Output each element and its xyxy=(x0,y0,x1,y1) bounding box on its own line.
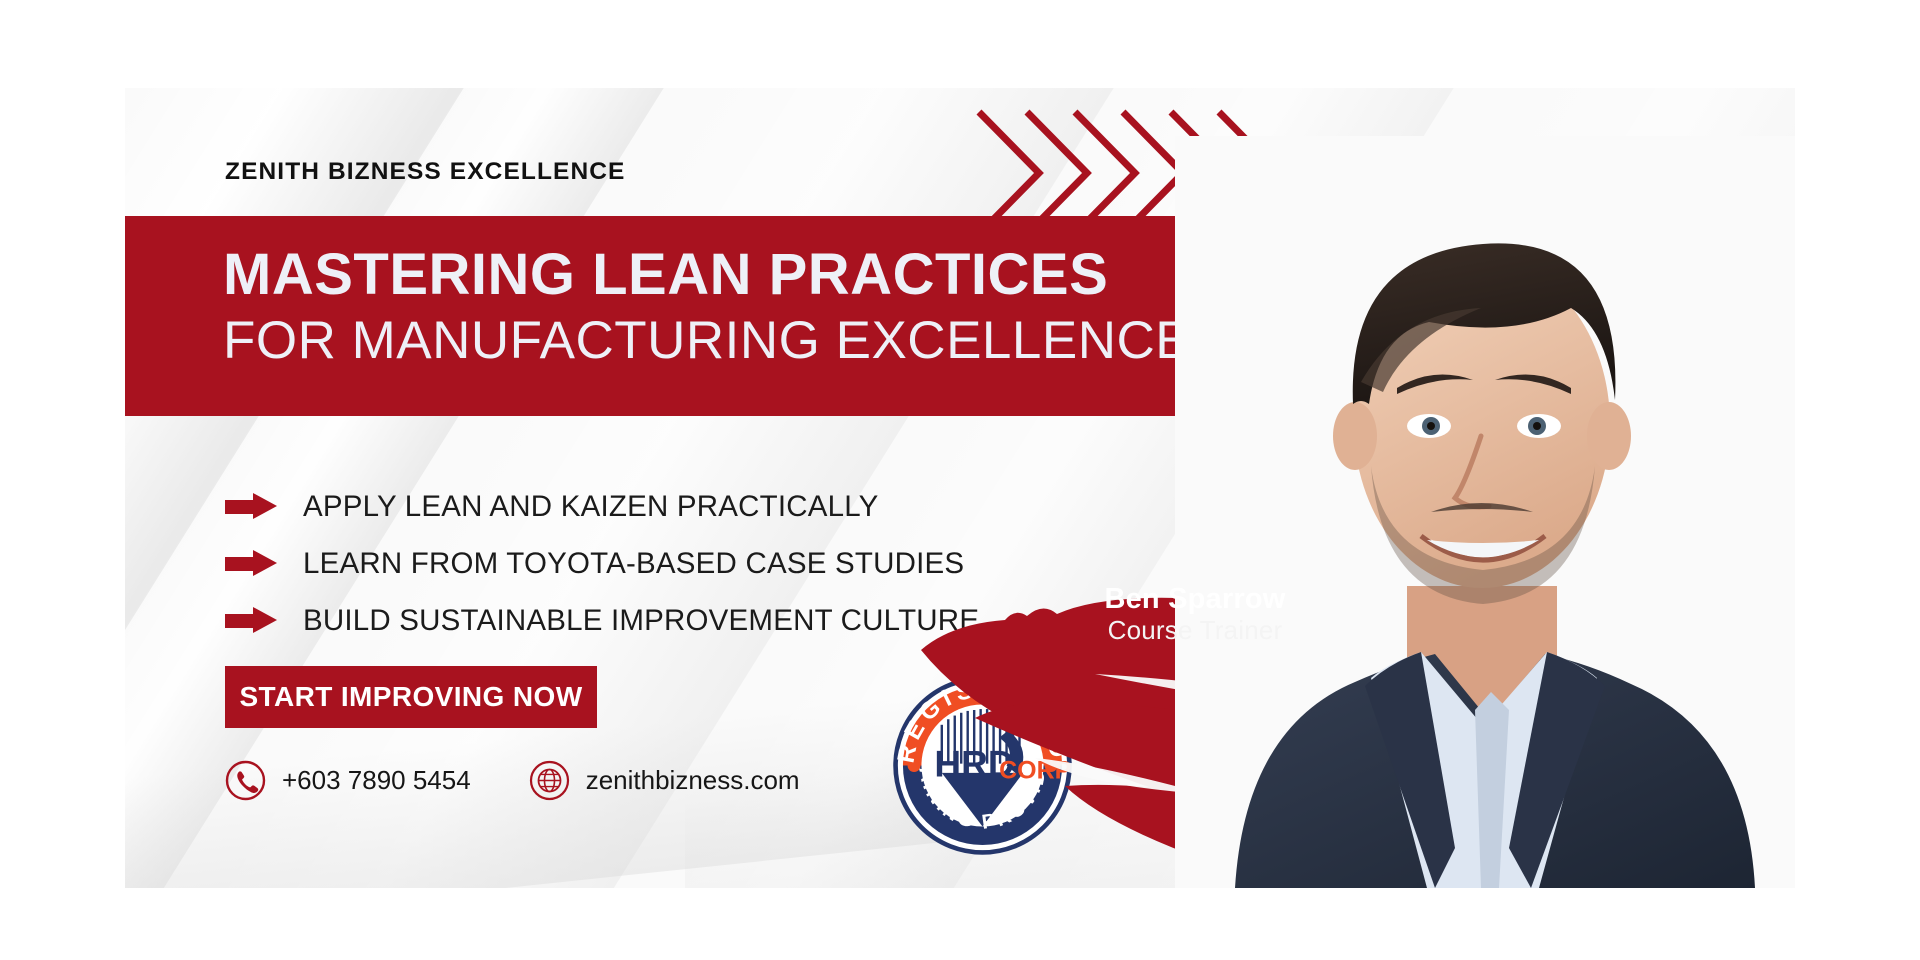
phone-icon xyxy=(225,760,266,801)
promo-banner: ZENITH BIZNESS EXCELLENCE MASTERING LEAN… xyxy=(125,88,1795,888)
globe-icon xyxy=(529,760,570,801)
trainer-role: Course Trainer xyxy=(1030,615,1360,646)
list-item: BUILD SUSTAINABLE IMPROVEMENT CULTURE xyxy=(225,592,979,649)
trainer-nameplate: Ben Sparrow Course Trainer xyxy=(1030,583,1360,647)
list-item: APPLY LEAN AND KAIZEN PRACTICALLY xyxy=(225,478,979,535)
start-improving-now-button[interactable]: START IMPROVING NOW xyxy=(225,666,597,728)
title-line-2: FOR MANUFACTURING EXCELLENCE xyxy=(223,311,1153,370)
title-band: MASTERING LEAN PRACTICES FOR MANUFACTURI… xyxy=(125,216,1280,416)
badge-center-secondary: CORP xyxy=(999,756,1071,784)
arrow-right-icon xyxy=(225,550,277,577)
contact-bar: +603 7890 5454 zenithbizness.com xyxy=(225,760,800,801)
trainer-photo xyxy=(1175,136,1795,888)
cta-label: START IMPROVING NOW xyxy=(239,681,582,713)
list-item-label: APPLY LEAN AND KAIZEN PRACTICALLY xyxy=(303,490,879,524)
title-line-1: MASTERING LEAN PRACTICES xyxy=(223,246,1153,304)
list-item-label: BUILD SUSTAINABLE IMPROVEMENT CULTURE xyxy=(303,604,979,638)
list-item: LEARN FROM TOYOTA-BASED CASE STUDIES xyxy=(225,535,979,592)
benefits-list: APPLY LEAN AND KAIZEN PRACTICALLY LEARN … xyxy=(225,478,979,649)
website-url: zenithbizness.com xyxy=(586,765,800,796)
list-item-label: LEARN FROM TOYOTA-BASED CASE STUDIES xyxy=(303,547,964,581)
arrow-right-icon xyxy=(225,607,277,634)
phone-contact[interactable]: +603 7890 5454 xyxy=(225,760,471,801)
website-contact[interactable]: zenithbizness.com xyxy=(529,760,800,801)
brand-name: ZENITH BIZNESS EXCELLENCE xyxy=(225,158,625,186)
trainer-name: Ben Sparrow xyxy=(1030,583,1360,615)
arrow-right-icon xyxy=(225,493,277,520)
phone-number: +603 7890 5454 xyxy=(282,765,471,796)
hrd-corp-badge: REGISTERED TRAINING PROVIDER HRD CORP xyxy=(890,673,1075,858)
poster-canvas: ZENITH BIZNESS EXCELLENCE MASTERING LEAN… xyxy=(0,0,1920,960)
